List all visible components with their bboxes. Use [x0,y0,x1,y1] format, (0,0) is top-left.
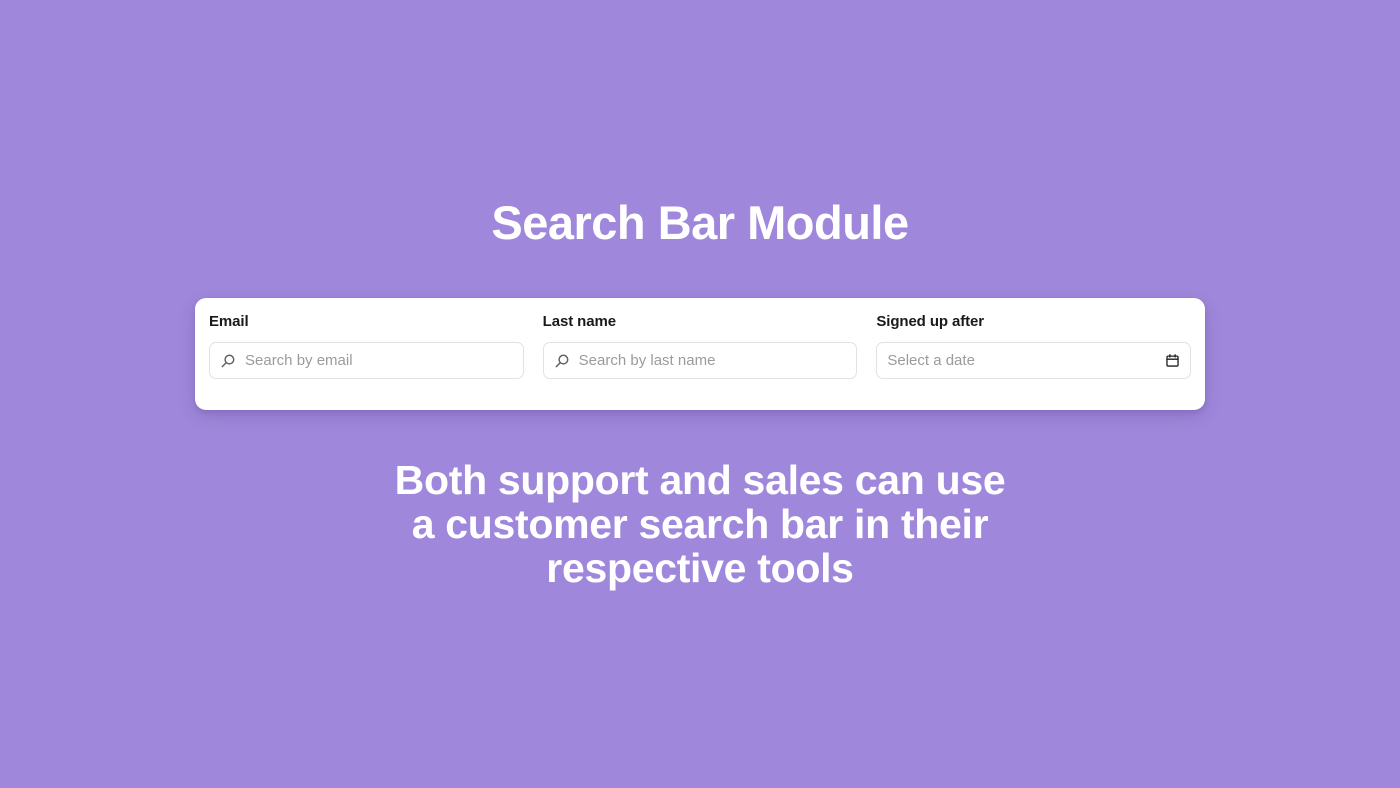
date-input-shell[interactable] [876,342,1191,379]
field-group-signed-up-after: Signed up after [876,312,1191,379]
field-group-last-name: Last name [543,312,858,379]
page-root: Search Bar Module Email Last na [0,0,1400,788]
search-fields-row: Email Last name [209,312,1191,379]
search-bar-card: Email Last name [195,298,1205,410]
caption-text: Both support and sales can use a custome… [0,458,1400,590]
email-input-shell[interactable] [209,342,524,379]
last-name-input-shell[interactable] [543,342,858,379]
search-icon [220,353,236,369]
label-last-name: Last name [543,312,858,332]
label-email: Email [209,312,524,332]
page-title: Search Bar Module [0,190,1400,256]
date-input-signed-up-after[interactable] [887,351,1155,371]
field-group-email: Email [209,312,524,379]
calendar-icon[interactable] [1164,353,1180,369]
search-input-email[interactable] [245,351,513,371]
search-icon [554,353,570,369]
label-signed-up-after: Signed up after [876,312,1191,332]
search-input-last-name[interactable] [579,351,847,371]
